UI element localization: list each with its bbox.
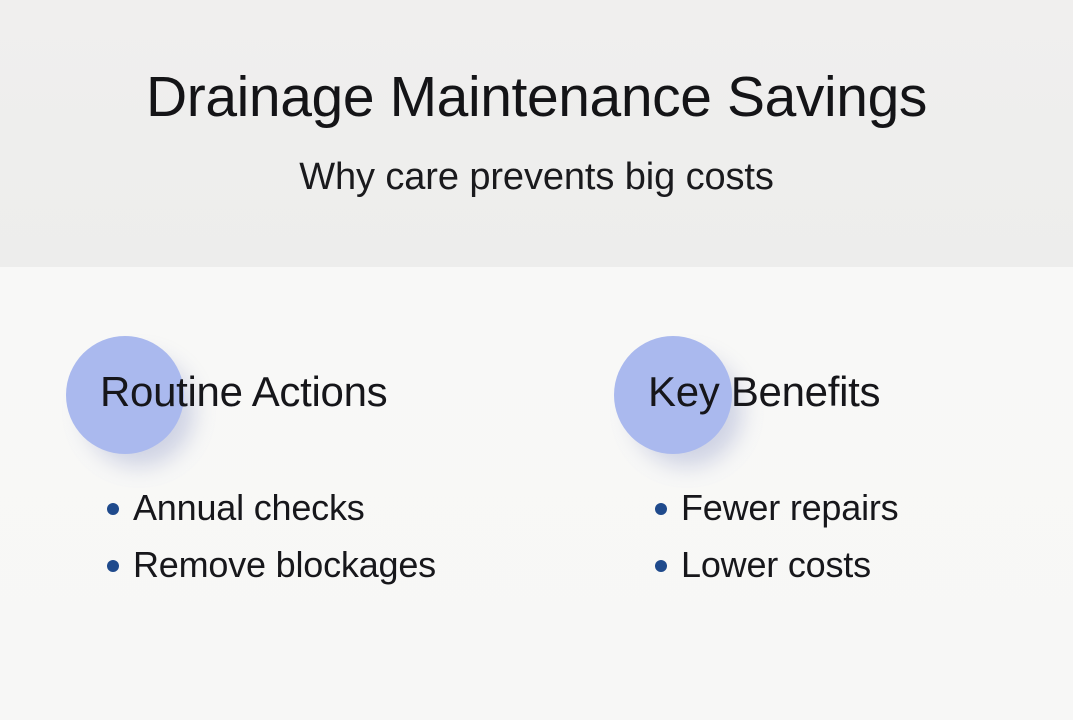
- bullet-dot-icon: [655, 503, 667, 515]
- list-item: Fewer repairs: [603, 483, 1063, 540]
- list-item: Remove blockages: [55, 540, 575, 597]
- content-column-key-benefits: Key Benefits Fewer repairs Lower costs: [603, 267, 1063, 459]
- list-item-label: Annual checks: [133, 487, 365, 528]
- column-header: Routine Actions: [55, 267, 575, 459]
- list-item: Annual checks: [55, 483, 575, 540]
- list-item: Lower costs: [603, 540, 1063, 597]
- bullet-dot-icon: [107, 503, 119, 515]
- list-item-label: Lower costs: [681, 544, 871, 585]
- bullet-dot-icon: [107, 560, 119, 572]
- column-heading: Key Benefits: [648, 365, 880, 419]
- column-header: Key Benefits: [603, 267, 1063, 459]
- bullet-list: Fewer repairs Lower costs: [603, 483, 1063, 597]
- content-column-routine-actions: Routine Actions Annual checks Remove blo…: [55, 267, 575, 459]
- header-band: Drainage Maintenance Savings Why care pr…: [0, 0, 1073, 267]
- list-item-label: Fewer repairs: [681, 487, 898, 528]
- column-heading: Routine Actions: [100, 365, 387, 419]
- bullet-list: Annual checks Remove blockages: [55, 483, 575, 597]
- list-item-label: Remove blockages: [133, 544, 436, 585]
- content-area: Routine Actions Annual checks Remove blo…: [0, 267, 1073, 720]
- page-title: Drainage Maintenance Savings: [0, 63, 1073, 131]
- page-subtitle: Why care prevents big costs: [0, 153, 1073, 201]
- slide-canvas: Drainage Maintenance Savings Why care pr…: [0, 0, 1073, 720]
- bullet-dot-icon: [655, 560, 667, 572]
